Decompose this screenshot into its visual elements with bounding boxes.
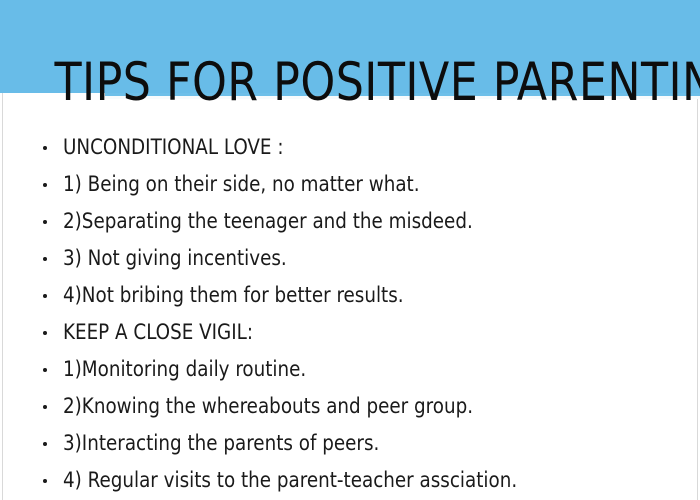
presentation-slide: TIPS FOR POSITIVE PARENTING UNCONDITIONA… <box>0 0 700 500</box>
list-item: 3)Interacting the parents of peers. <box>0 425 700 462</box>
list-item: 2)Knowing the whereabouts and peer group… <box>0 388 700 425</box>
list-item: 4)Not bribing them for better results. <box>0 277 700 314</box>
bullet-dot-icon <box>43 368 47 372</box>
slide-body: UNCONDITIONAL LOVE : 1) Being on their s… <box>0 96 700 500</box>
list-item: UNCONDITIONAL LOVE : <box>0 129 700 166</box>
bullet-dot-icon <box>43 442 47 446</box>
list-item-label: 3)Interacting the parents of peers. <box>63 433 379 454</box>
bullet-dot-icon <box>43 294 47 298</box>
list-item-label: KEEP A CLOSE VIGIL: <box>63 322 253 343</box>
list-item: 4) Regular visits to the parent-teacher … <box>0 462 700 499</box>
slide-header: TIPS FOR POSITIVE PARENTING <box>0 0 700 96</box>
bullet-dot-icon <box>43 257 47 261</box>
list-item-label: 1) Being on their side, no matter what. <box>63 174 420 195</box>
bullet-dot-icon <box>43 183 47 187</box>
bullet-dot-icon <box>43 479 47 483</box>
list-item-label: 3) Not giving incentives. <box>63 248 287 269</box>
bullet-dot-icon <box>43 331 47 335</box>
bullet-dot-icon <box>43 405 47 409</box>
list-item: 2)Separating the teenager and the misdee… <box>0 203 700 240</box>
list-item-label: UNCONDITIONAL LOVE : <box>63 137 283 158</box>
list-item-label: 4)Not bribing them for better results. <box>63 285 404 306</box>
list-item: 1) Being on their side, no matter what. <box>0 166 700 203</box>
list-item-label: 4) Regular visits to the parent-teacher … <box>63 470 517 491</box>
list-item: KEEP A CLOSE VIGIL: <box>0 314 700 351</box>
tips-bullet-list: UNCONDITIONAL LOVE : 1) Being on their s… <box>0 129 700 499</box>
list-item-label: 2)Knowing the whereabouts and peer group… <box>63 396 473 417</box>
bullet-dot-icon <box>43 220 47 224</box>
list-item: 1)Monitoring daily routine. <box>0 351 700 388</box>
bullet-dot-icon <box>43 146 47 150</box>
list-item-label: 2)Separating the teenager and the misdee… <box>63 211 473 232</box>
list-item: 3) Not giving incentives. <box>0 240 700 277</box>
list-item-label: 1)Monitoring daily routine. <box>63 359 306 380</box>
